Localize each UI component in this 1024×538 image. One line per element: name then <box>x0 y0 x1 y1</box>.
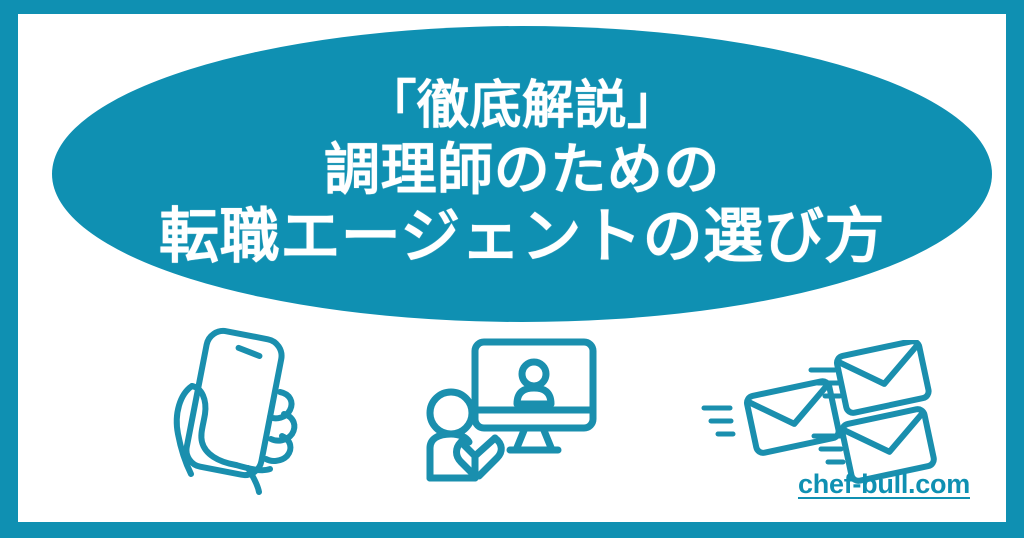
headline-block: 「徹底解説」 調理師のための 転職エージェントの選び方 <box>52 26 992 322</box>
white-card: 「徹底解説」 調理師のための 転職エージェントの選び方 <box>18 14 1006 522</box>
illustration-row <box>18 314 1006 489</box>
headline-line-1: 「徹底解説」 <box>364 77 679 136</box>
thumbnail-banner: 「徹底解説」 調理師のための 転職エージェントの選び方 <box>0 0 1024 538</box>
hand-holding-smartphone-icon <box>158 322 308 502</box>
headline-line-2: 調理師のための <box>324 138 720 201</box>
flying-envelopes-icon <box>698 340 958 490</box>
online-meeting-icon <box>413 338 603 493</box>
site-url-label: chef-bull.com <box>798 469 970 500</box>
headline-line-3: 転職エージェントの選び方 <box>159 203 885 271</box>
